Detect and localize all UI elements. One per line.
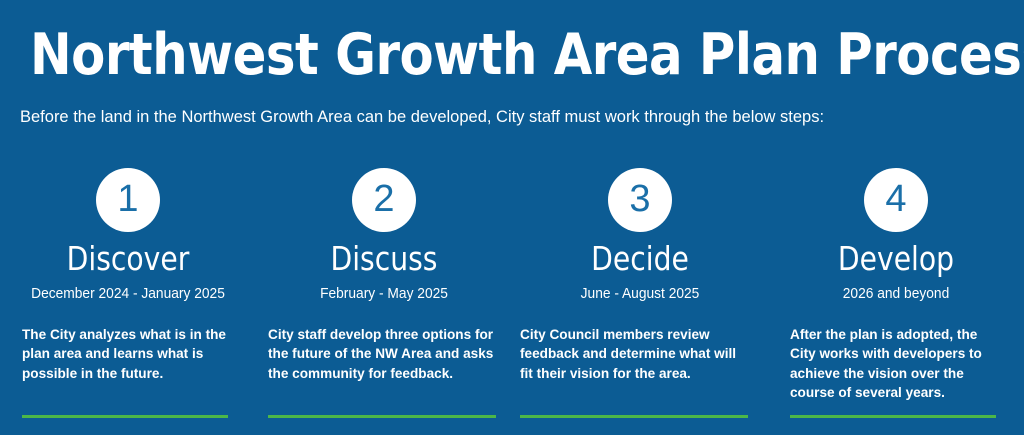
step-divider-rule-2 [268, 415, 496, 418]
step-number-circle-3: 3 [608, 168, 672, 232]
step-dates-1: December 2024 - January 2025 [6, 286, 249, 303]
step-number-1: 1 [117, 180, 138, 218]
step-divider-rule-1 [22, 415, 228, 418]
step-number-4: 4 [885, 180, 906, 218]
infographic-banner: Northwest Growth Area Plan Process Befor… [0, 0, 1024, 435]
step-title-1: Discover [6, 241, 249, 277]
process-step-1: 1 Discover December 2024 - January 2025 … [0, 163, 256, 435]
step-dates-2: February - May 2025 [262, 286, 505, 303]
process-step-3: 3 Decide June - August 2025 City Council… [512, 163, 768, 435]
step-number-circle-1: 1 [96, 168, 160, 232]
step-number-3: 3 [629, 180, 650, 218]
step-description-1: The City analyzes what is in the plan ar… [22, 325, 228, 383]
step-title-4: Develop [774, 241, 1017, 277]
step-description-3: City Council members review feedback and… [520, 325, 748, 383]
process-step-4: 4 Develop 2026 and beyond After the plan… [768, 163, 1024, 435]
step-title-3: Decide [518, 241, 761, 277]
step-number-circle-2: 2 [352, 168, 416, 232]
process-step-2: 2 Discuss February - May 2025 City staff… [256, 163, 512, 435]
page-subtitle: Before the land in the Northwest Growth … [20, 107, 1010, 128]
step-divider-rule-4 [790, 415, 996, 418]
step-number-2: 2 [373, 180, 394, 218]
step-dates-4: 2026 and beyond [774, 286, 1017, 303]
step-description-4: After the plan is adopted, the City work… [790, 325, 996, 402]
step-description-2: City staff develop three options for the… [268, 325, 496, 383]
step-dates-3: June - August 2025 [518, 286, 761, 303]
step-divider-rule-3 [520, 415, 748, 418]
step-number-circle-4: 4 [864, 168, 928, 232]
page-title: Northwest Growth Area Plan Process [30, 26, 965, 86]
process-steps: 1 Discover December 2024 - January 2025 … [0, 163, 1024, 435]
step-title-2: Discuss [262, 241, 505, 277]
